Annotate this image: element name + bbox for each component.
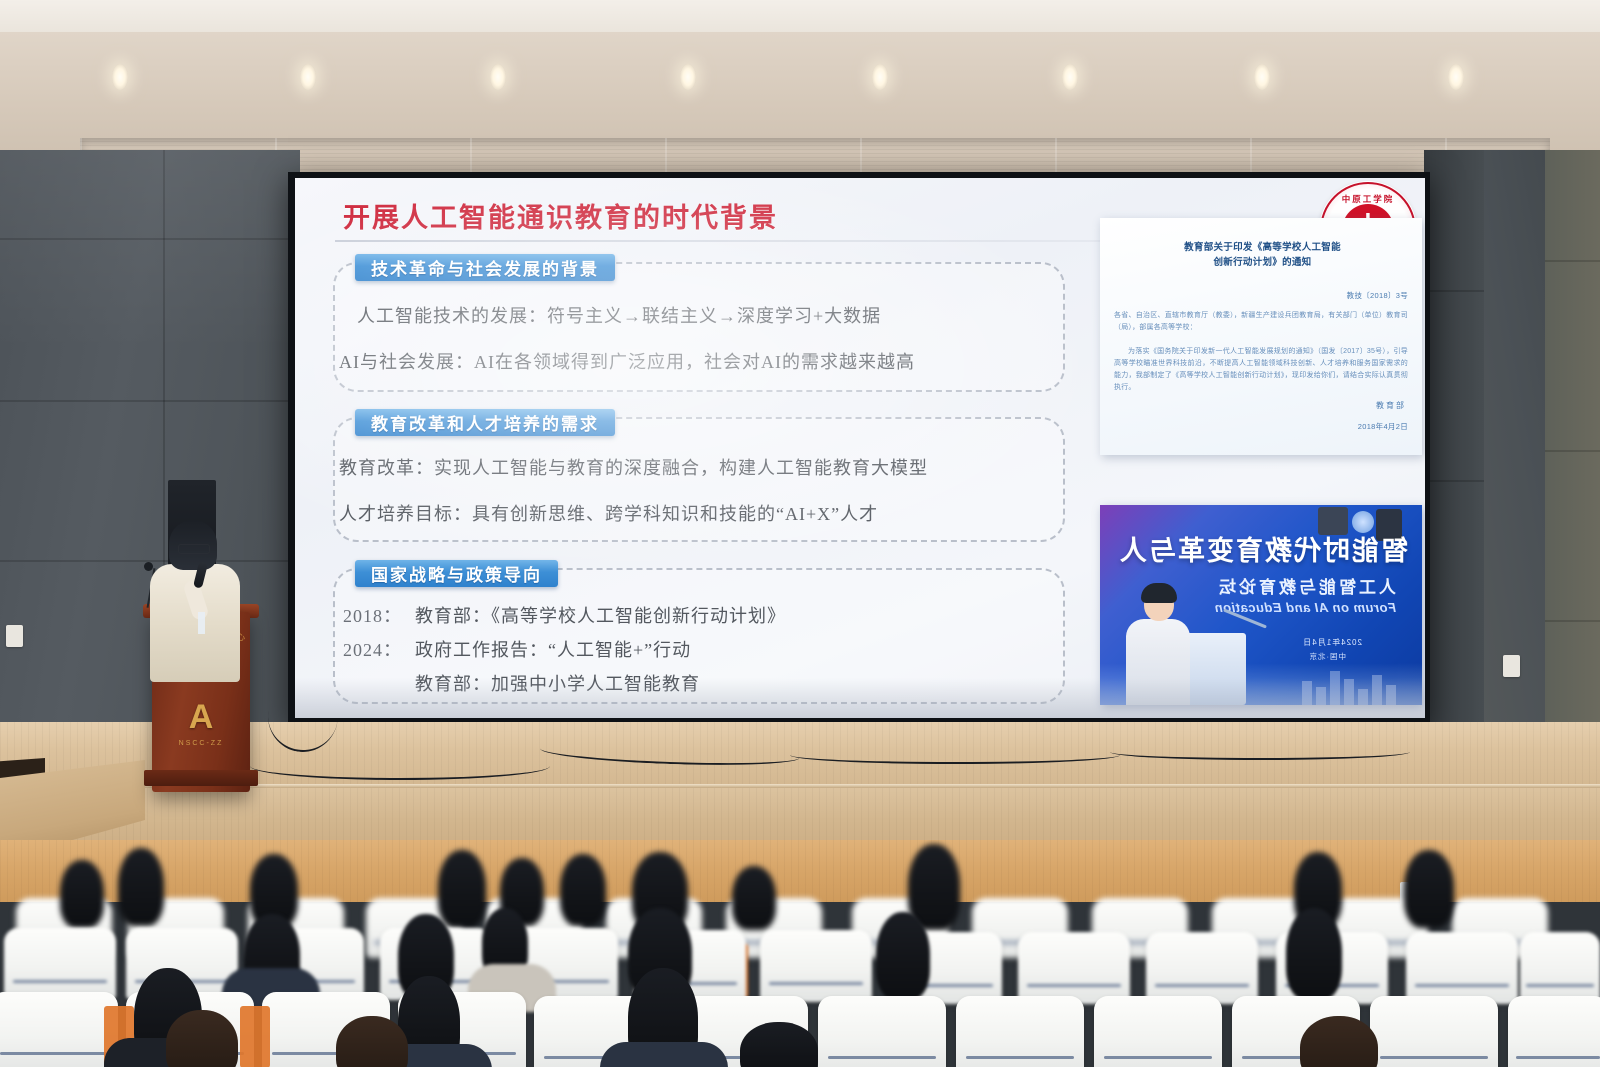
forum-speaker-body <box>1126 619 1190 705</box>
audience-area <box>0 840 1600 1067</box>
audience-shoulders <box>600 1042 728 1067</box>
document-addressee: 各省、自治区、直辖市教育厅（教委），新疆生产建设兵团教育局，有关部门（单位）教育… <box>1114 310 1408 334</box>
forum-english-title: Forum on AI and Education <box>1214 600 1396 615</box>
audience-head <box>166 1010 238 1067</box>
policy-row: 2018：教育部：《高等学校人工智能创新行动计划》 <box>343 602 786 628</box>
forum-photo-mirrored-content: 智能时代教育变革与人 人工智能与教育论坛 Forum on AI and Edu… <box>1100 505 1422 705</box>
podium-base <box>144 770 258 786</box>
audience-head <box>1404 850 1454 928</box>
slide-section-3-badge: 国家战略与政策导向 <box>355 560 558 587</box>
presenter <box>152 520 236 680</box>
wood-grain <box>0 840 1600 902</box>
audience-head <box>732 866 776 930</box>
ceiling-downlight <box>680 64 696 90</box>
forum-date: 2024年1月4日 <box>1302 637 1362 648</box>
policy-text: 政府工作报告：“人工智能+”行动 <box>415 640 691 660</box>
forum-speaker-hair <box>1141 583 1177 603</box>
projection-screen[interactable]: 开展人工智能通识教育的时代背景 技术革命与社会发展的背景 人工智能技术的发展：符… <box>295 178 1425 718</box>
chair[interactable] <box>0 992 118 1067</box>
wall-seam <box>1424 480 1484 482</box>
audience-head <box>118 848 164 926</box>
forum-speaker-figure <box>1126 587 1190 705</box>
wall-sheen <box>0 150 300 350</box>
wall-seam <box>0 400 300 402</box>
audience-head <box>876 912 930 1000</box>
stage-wood-wall-band <box>0 840 1600 902</box>
slide-section-2-line-1: 教育改革：实现人工智能与教育的深度融合，构建人工智能教育大模型 <box>339 454 928 480</box>
forum-location: 中国·北京 <box>1309 651 1347 662</box>
presentation-slide: 开展人工智能通识教育的时代背景 技术革命与社会发展的背景 人工智能技术的发展：符… <box>295 178 1425 718</box>
ceiling-downlight <box>1448 64 1464 90</box>
chair[interactable] <box>760 930 872 1002</box>
audience-head <box>1300 1016 1378 1067</box>
chair[interactable] <box>1520 932 1600 1004</box>
wall-column-right-outer <box>1545 150 1600 750</box>
policy-row: 2024：政府工作报告：“人工智能+”行动 <box>343 636 691 662</box>
ceiling-downlight <box>112 64 128 90</box>
policy-year: 2018： <box>343 602 415 628</box>
chair[interactable] <box>1508 996 1600 1067</box>
wall-outlet <box>1503 655 1520 677</box>
chair[interactable] <box>1018 932 1130 1004</box>
audience-head <box>60 860 104 928</box>
floor-cable <box>1110 744 1410 760</box>
ceiling-downlight <box>1062 64 1078 90</box>
forum-subhead: 人工智能与教育论坛 <box>1216 573 1396 598</box>
glasses-icon <box>178 544 210 554</box>
ceiling-downlight <box>872 64 888 90</box>
slide-title: 开展人工智能通识教育的时代背景 <box>343 196 778 235</box>
policy-text: 教育部：加强中小学人工智能教育 <box>415 674 700 694</box>
chair[interactable] <box>1406 932 1518 1004</box>
chair[interactable] <box>1094 996 1222 1067</box>
wall-column-right-inner <box>1424 150 1484 750</box>
chair[interactable] <box>818 996 946 1067</box>
audience-head <box>438 850 486 928</box>
forum-photo: 智能时代教育变革与人 人工智能与教育论坛 Forum on AI and Edu… <box>1100 505 1422 705</box>
ceiling-downlight <box>300 64 316 90</box>
document-title: 教育部关于印发《高等学校人工智能 创新行动计划》的通知 <box>1150 240 1375 270</box>
wall-seam <box>1424 290 1484 292</box>
chair-cushion <box>240 1006 270 1067</box>
wall-seam <box>1545 450 1600 452</box>
wall-seam <box>1545 620 1600 622</box>
ceiling-beige-band <box>0 32 1600 152</box>
podium-emblem-icon: A <box>152 700 250 734</box>
policy-text: 教育部：《高等学校人工智能创新行动计划》 <box>415 606 786 626</box>
slide-section-2-line-2: 人才培养目标：具有创新思维、跨学科知识和技能的“AI+X”人才 <box>339 500 878 526</box>
presenter-lanyard <box>198 612 205 634</box>
audience-head <box>1286 908 1342 1000</box>
slide-section-2-badge: 教育改革和人才培养的需求 <box>355 409 615 436</box>
lecture-hall-scene: 开展人工智能通识教育的时代背景 技术革命与社会发展的背景 人工智能技术的发展：符… <box>0 0 1600 1067</box>
slide-section-1-badge: 技术革命与社会发展的背景 <box>355 254 615 281</box>
podium-emblem-label: NSCC-ZZ <box>152 740 250 747</box>
chair[interactable] <box>1370 996 1498 1067</box>
document-code: 教技〔2018〕3号 <box>1347 290 1408 301</box>
ceiling-downlight <box>1254 64 1270 90</box>
ceiling-downlight <box>490 64 506 90</box>
chair[interactable] <box>4 928 116 1000</box>
wall-seam <box>1545 260 1600 262</box>
policy-row: 教育部：加强中小学人工智能教育 <box>343 670 700 696</box>
chair[interactable] <box>1146 932 1258 1004</box>
audience-head <box>560 854 606 926</box>
floor-cable <box>790 746 1120 764</box>
slide-section-1-line-2: AI与社会发展：AI在各领域得到广泛应用，社会对AI的需求越来越高 <box>339 348 915 374</box>
document-signature: 教育部 <box>1376 400 1406 411</box>
policy-document-image: 教育部关于印发《高等学校人工智能 创新行动计划》的通知 教技〔2018〕3号 各… <box>1100 218 1422 455</box>
wall-outlet <box>6 625 23 647</box>
policy-year: 2024： <box>343 636 415 662</box>
forum-headline: 智能时代教育变革与人 <box>1118 529 1408 568</box>
chair[interactable] <box>956 996 1084 1067</box>
document-date: 2018年4月2日 <box>1358 421 1408 432</box>
document-body: 为落实《国务院关于印发新一代人工智能发展规划的通知》（国发〔2017〕35号），… <box>1114 346 1408 394</box>
floor-cable <box>250 752 550 780</box>
slide-section-1-line-1: 人工智能技术的发展：符号主义→联结主义→深度学习+大数据 <box>357 302 881 328</box>
